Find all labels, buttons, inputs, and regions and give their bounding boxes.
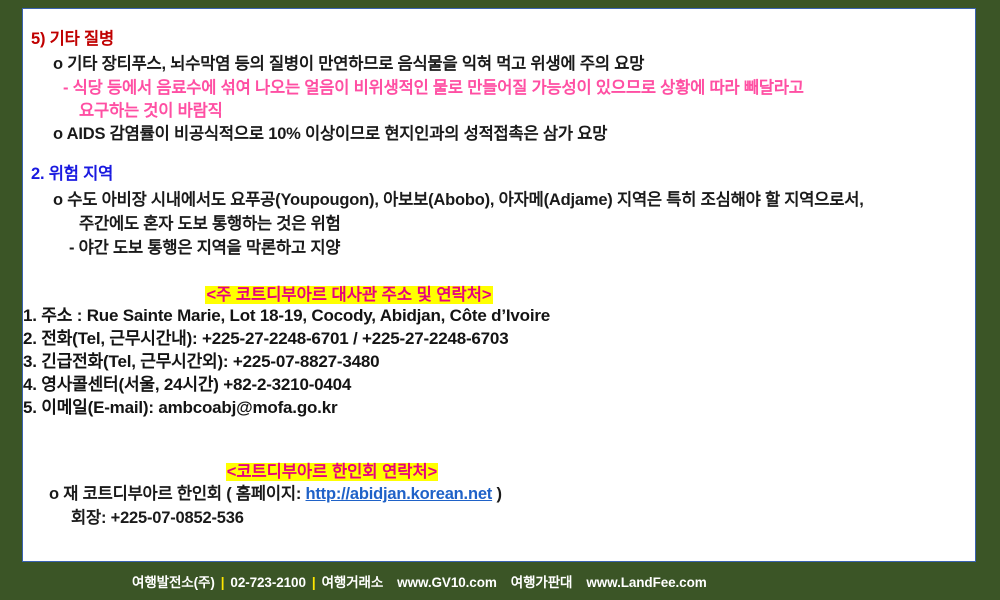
- danger-bullet-1-line-2: 주간에도 혼자 도보 통행하는 것은 위험: [79, 216, 341, 233]
- embassy-item-address: 1. 주소 : Rue Sainte Marie, Lot 18-19, Coc…: [23, 307, 550, 324]
- association-title-wrap: <코트디부아르 한인회 연락처>: [23, 458, 641, 482]
- association-line-1-suffix: ): [492, 485, 502, 503]
- disease-subbullet-1-line-1: - 식당 등에서 음료수에 섞여 나오는 얼음이 비위생적인 물로 만들어질 가…: [63, 80, 804, 97]
- footer-separator-2: |: [306, 575, 322, 590]
- embassy-item-emergency-phone: 3. 긴급전화(Tel, 근무시간외): +225-07-8827-3480: [23, 353, 379, 370]
- footer-phone-number: 02-723-2100: [230, 575, 305, 590]
- danger-bullet-1-line-1: o 수도 아비장 시내에서도 요푸공(Youpougon), 아보보(Abobo…: [53, 192, 864, 209]
- disease-bullet-2: o AIDS 감염률이 비공식적으로 10% 이상이므로 현지인과의 성적접촉은…: [53, 126, 607, 143]
- footer-bar: 여행발전소(주) | 02-723-2100 | 여행거래소 www.GV10.…: [0, 562, 1000, 600]
- slide-root: 5) 기타 질병 o 기타 장티푸스, 뇌수막염 등의 질병이 만연하므로 음식…: [0, 0, 1000, 600]
- footer-brand-2: 여행가판대: [511, 571, 573, 591]
- disease-subbullet-1-line-2: 요구하는 것이 바람직: [79, 103, 223, 120]
- embassy-item-consular-call-center: 4. 영사콜센터(서울, 24시간) +82-2-3210-0404: [23, 376, 351, 393]
- footer-company-name: 여행발전소(주): [132, 571, 215, 591]
- slide-content-canvas: 5) 기타 질병 o 기타 장티푸스, 뇌수막염 등의 질병이 만연하므로 음식…: [22, 8, 976, 562]
- association-homepage-link[interactable]: http://abidjan.korean.net: [306, 485, 493, 503]
- association-line-1: o 재 코트디부아르 한인회 ( 홈페이지: http://abidjan.ko…: [49, 486, 502, 503]
- association-president-phone: 회장: +225-07-0852-536: [71, 510, 244, 527]
- embassy-contact-title: <주 코트디부아르 대사관 주소 및 연락처>: [205, 286, 492, 304]
- embassy-item-phone: 2. 전화(Tel, 근무시간내): +225-27-2248-6701 / +…: [23, 330, 508, 347]
- danger-subbullet-1: - 야간 도보 통행은 지역을 막론하고 지양: [69, 240, 340, 257]
- footer-content: 여행발전소(주) | 02-723-2100 | 여행거래소 www.GV10.…: [132, 571, 707, 591]
- embassy-title-wrap: <주 코트디부아르 대사관 주소 및 연락처>: [23, 281, 675, 305]
- embassy-item-email: 5. 이메일(E-mail): ambcoabj@mofa.go.kr: [23, 399, 337, 416]
- footer-site-1[interactable]: www.GV10.com: [397, 575, 497, 590]
- heading-danger-zones: 2. 위험 지역: [31, 166, 113, 183]
- association-line-1-prefix: o 재 코트디부아르 한인회 ( 홈페이지:: [49, 485, 306, 503]
- footer-brand-1: 여행거래소: [322, 571, 384, 591]
- footer-site-2[interactable]: www.LandFee.com: [586, 575, 706, 590]
- heading-other-diseases: 5) 기타 질병: [31, 31, 114, 48]
- disease-bullet-1: o 기타 장티푸스, 뇌수막염 등의 질병이 만연하므로 음식물을 익혀 먹고 …: [53, 56, 644, 73]
- korean-association-title: <코트디부아르 한인회 연락처>: [226, 463, 439, 481]
- footer-separator-1: |: [215, 575, 231, 590]
